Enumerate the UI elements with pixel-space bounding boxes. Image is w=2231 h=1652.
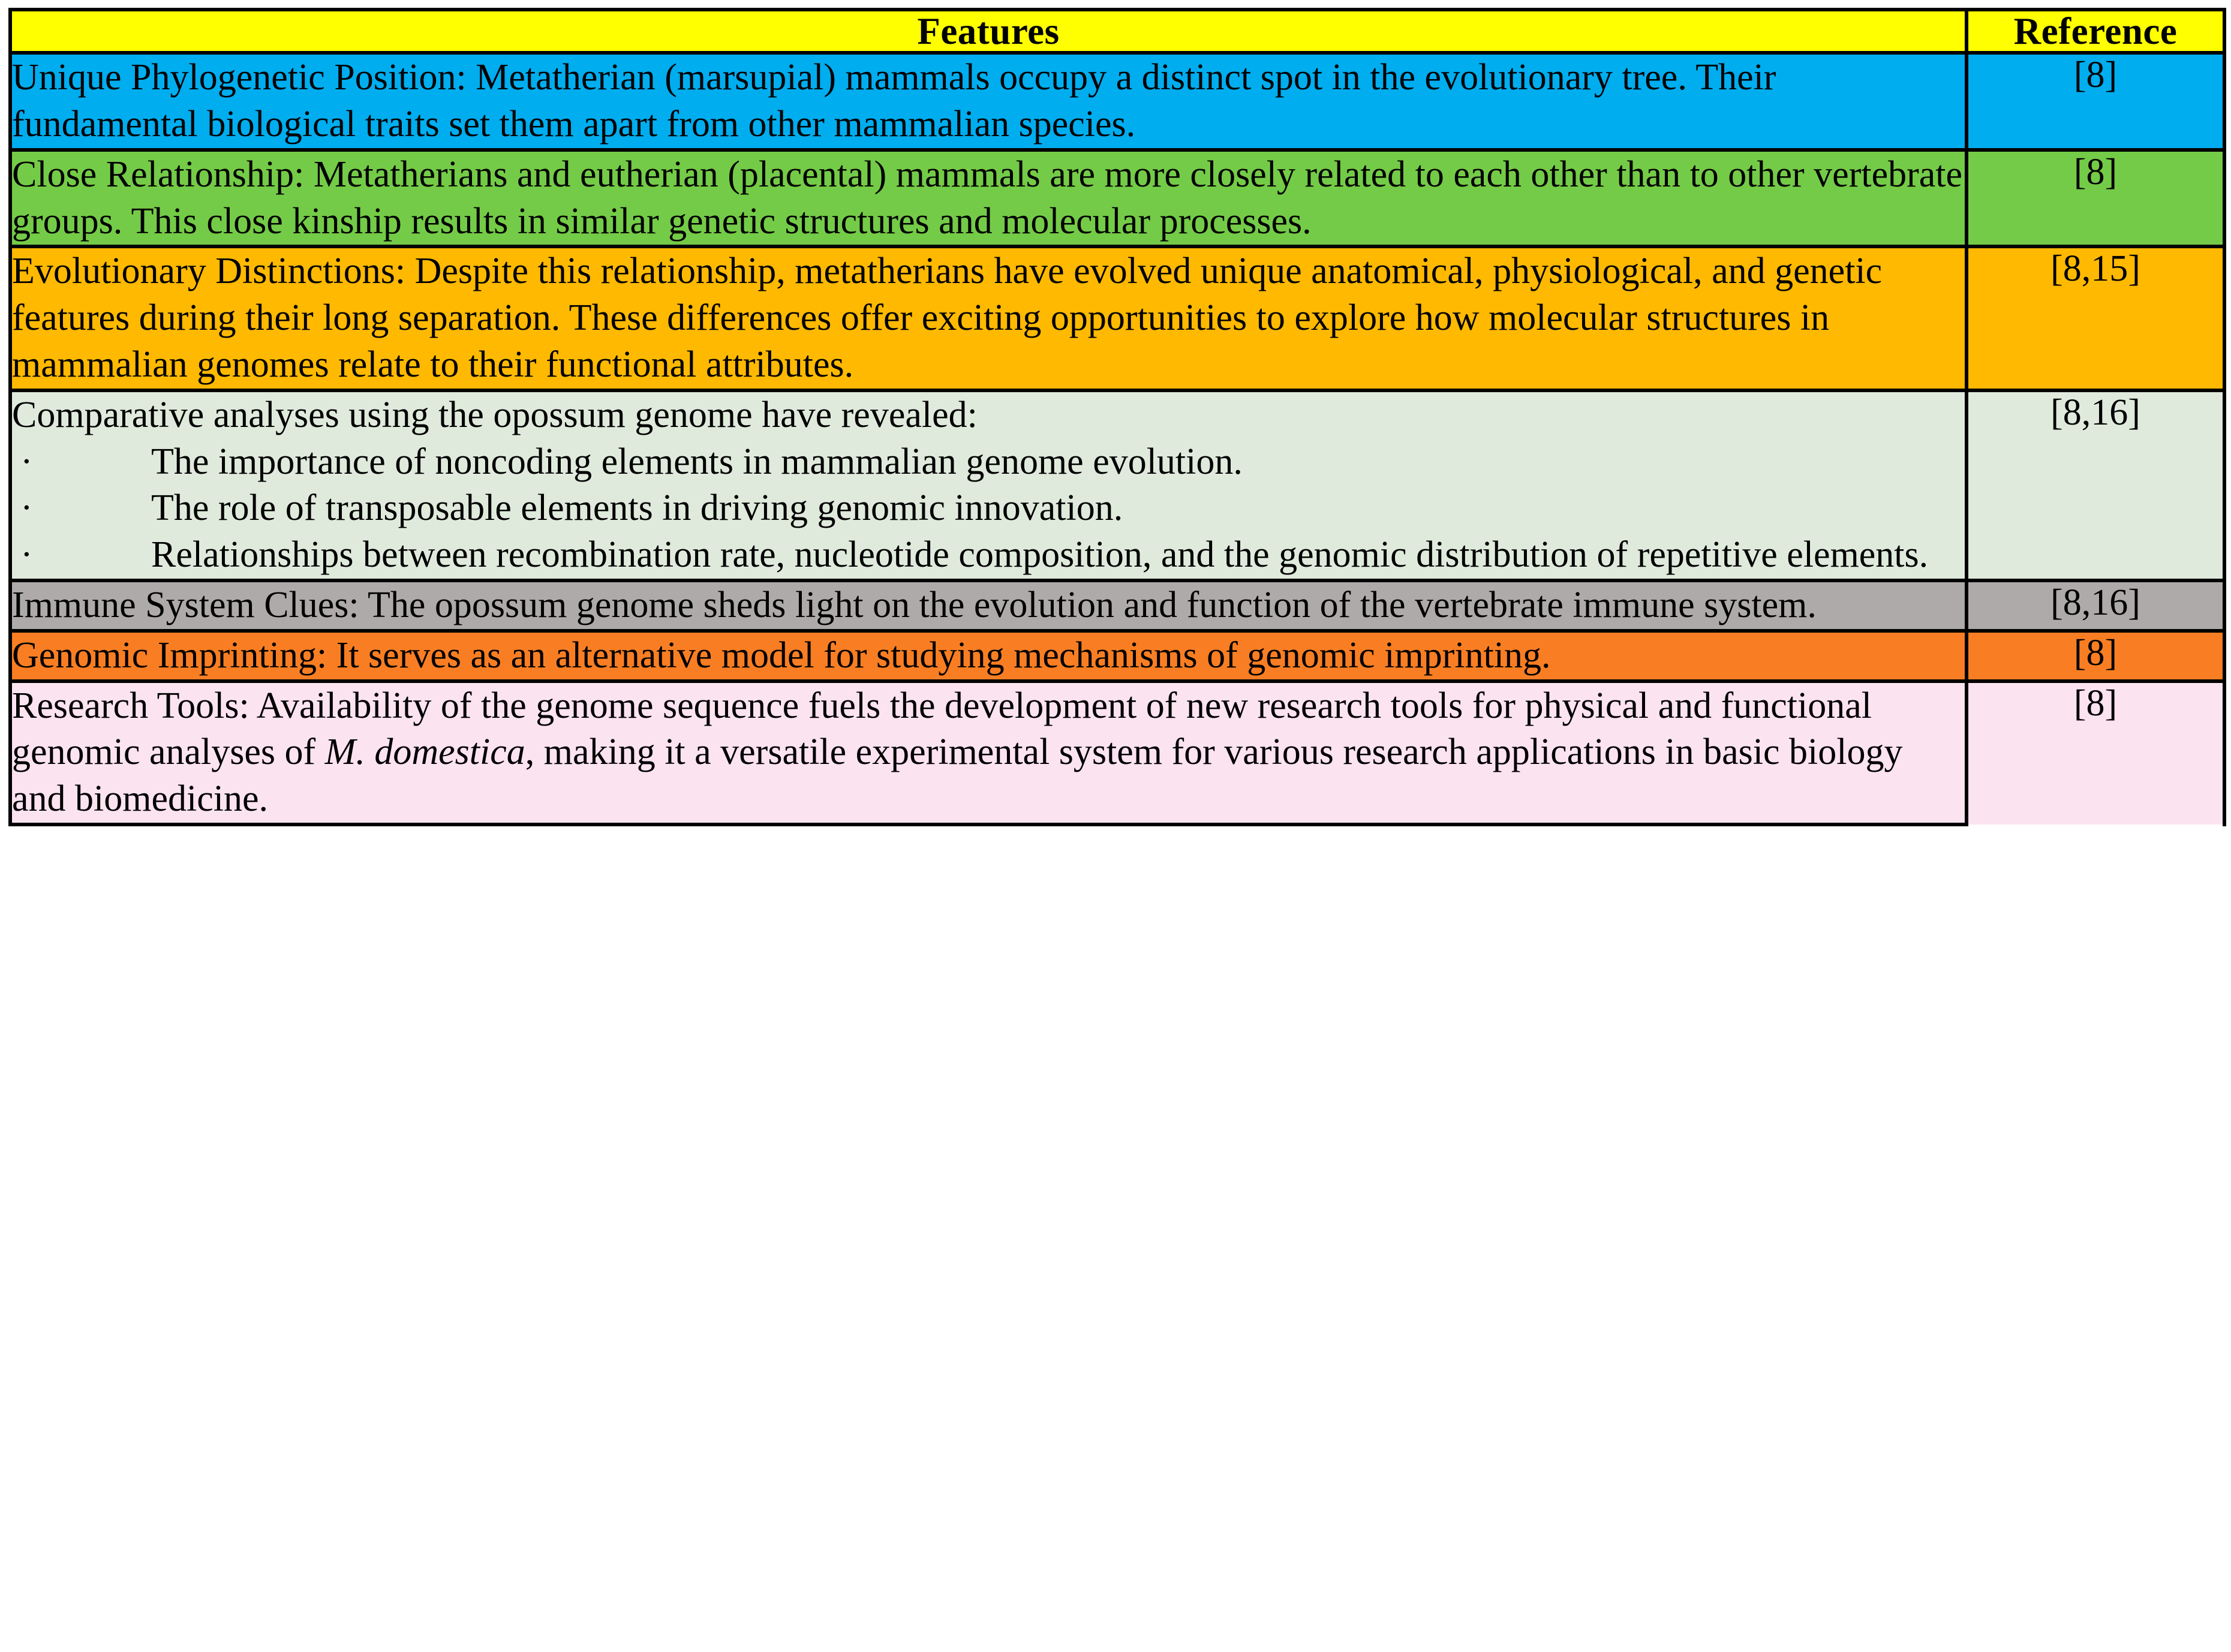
features-reference-table-container: Features Reference Unique Phylogenetic P… bbox=[8, 8, 2223, 826]
bullet-icon: · bbox=[20, 439, 33, 486]
features-reference-table: Features Reference Unique Phylogenetic P… bbox=[8, 8, 2226, 826]
feature-cell-evolutionary-distinctions: Evolutionary Distinctions: Despite this … bbox=[10, 246, 1967, 390]
table-row: Immune System Clues: The opossum genome … bbox=[10, 580, 2224, 631]
feature-text: Immune System Clues: The opossum genome … bbox=[12, 582, 1965, 629]
list-item-label: The importance of noncoding elements in … bbox=[151, 441, 1243, 482]
feature-text: Unique Phylogenetic Position: Metatheria… bbox=[12, 55, 1965, 148]
table-row: Genomic Imprinting: It serves as an alte… bbox=[10, 631, 2224, 681]
table-body: Unique Phylogenetic Position: Metatheria… bbox=[10, 53, 2224, 825]
reference-cell-research-tools: [8] bbox=[1967, 681, 2224, 825]
bullet-icon: · bbox=[20, 485, 33, 532]
list-item-label: The role of transposable elements in dri… bbox=[151, 488, 1123, 528]
reference-cell-immune-system-clues: [8,16] bbox=[1967, 580, 2224, 631]
list-item: · Relationships between recombination ra… bbox=[12, 532, 1965, 579]
table-row: Research Tools: Availability of the geno… bbox=[10, 681, 2224, 825]
reference-cell-comparative-analyses: [8,16] bbox=[1967, 390, 2224, 580]
feature-text: Evolutionary Distinctions: Despite this … bbox=[12, 248, 1965, 388]
reference-cell-genomic-imprinting: [8] bbox=[1967, 631, 2224, 681]
header-row: Features Reference bbox=[10, 10, 2224, 53]
feature-cell-genomic-imprinting: Genomic Imprinting: It serves as an alte… bbox=[10, 631, 1967, 681]
comparative-analyses-list: · The importance of noncoding elements i… bbox=[12, 439, 1965, 579]
feature-text: Research Tools: Availability of the geno… bbox=[12, 683, 1965, 823]
list-item: · The importance of noncoding elements i… bbox=[12, 439, 1965, 486]
column-header-reference: Reference bbox=[1967, 10, 2224, 53]
table-row: Evolutionary Distinctions: Despite this … bbox=[10, 246, 2224, 390]
feature-text: Close Relationship: Metatherians and eut… bbox=[12, 152, 1965, 245]
feature-cell-research-tools: Research Tools: Availability of the geno… bbox=[10, 681, 1967, 825]
table-row: Unique Phylogenetic Position: Metatheria… bbox=[10, 53, 2224, 150]
column-header-features: Features bbox=[10, 10, 1967, 53]
feature-cell-unique-phylogenetic-position: Unique Phylogenetic Position: Metatheria… bbox=[10, 53, 1967, 150]
feature-cell-close-relationship: Close Relationship: Metatherians and eut… bbox=[10, 150, 1967, 247]
list-item-label: Relationships between recombination rate… bbox=[151, 534, 1928, 575]
feature-intro-text: Comparative analyses using the opossum g… bbox=[12, 392, 1965, 439]
feature-cell-immune-system-clues: Immune System Clues: The opossum genome … bbox=[10, 580, 1967, 631]
reference-cell-evolutionary-distinctions: [8,15] bbox=[1967, 246, 2224, 390]
table-row: Comparative analyses using the opossum g… bbox=[10, 390, 2224, 580]
reference-cell-unique-phylogenetic-position: [8] bbox=[1967, 53, 2224, 150]
list-item: · The role of transposable elements in d… bbox=[12, 485, 1965, 532]
bullet-icon: · bbox=[20, 532, 33, 579]
table-row: Close Relationship: Metatherians and eut… bbox=[10, 150, 2224, 247]
table-header: Features Reference bbox=[10, 10, 2224, 53]
feature-cell-comparative-analyses: Comparative analyses using the opossum g… bbox=[10, 390, 1967, 580]
reference-cell-close-relationship: [8] bbox=[1967, 150, 2224, 247]
feature-text: Genomic Imprinting: It serves as an alte… bbox=[12, 633, 1965, 679]
species-name-italic: M. domestica bbox=[325, 732, 525, 772]
